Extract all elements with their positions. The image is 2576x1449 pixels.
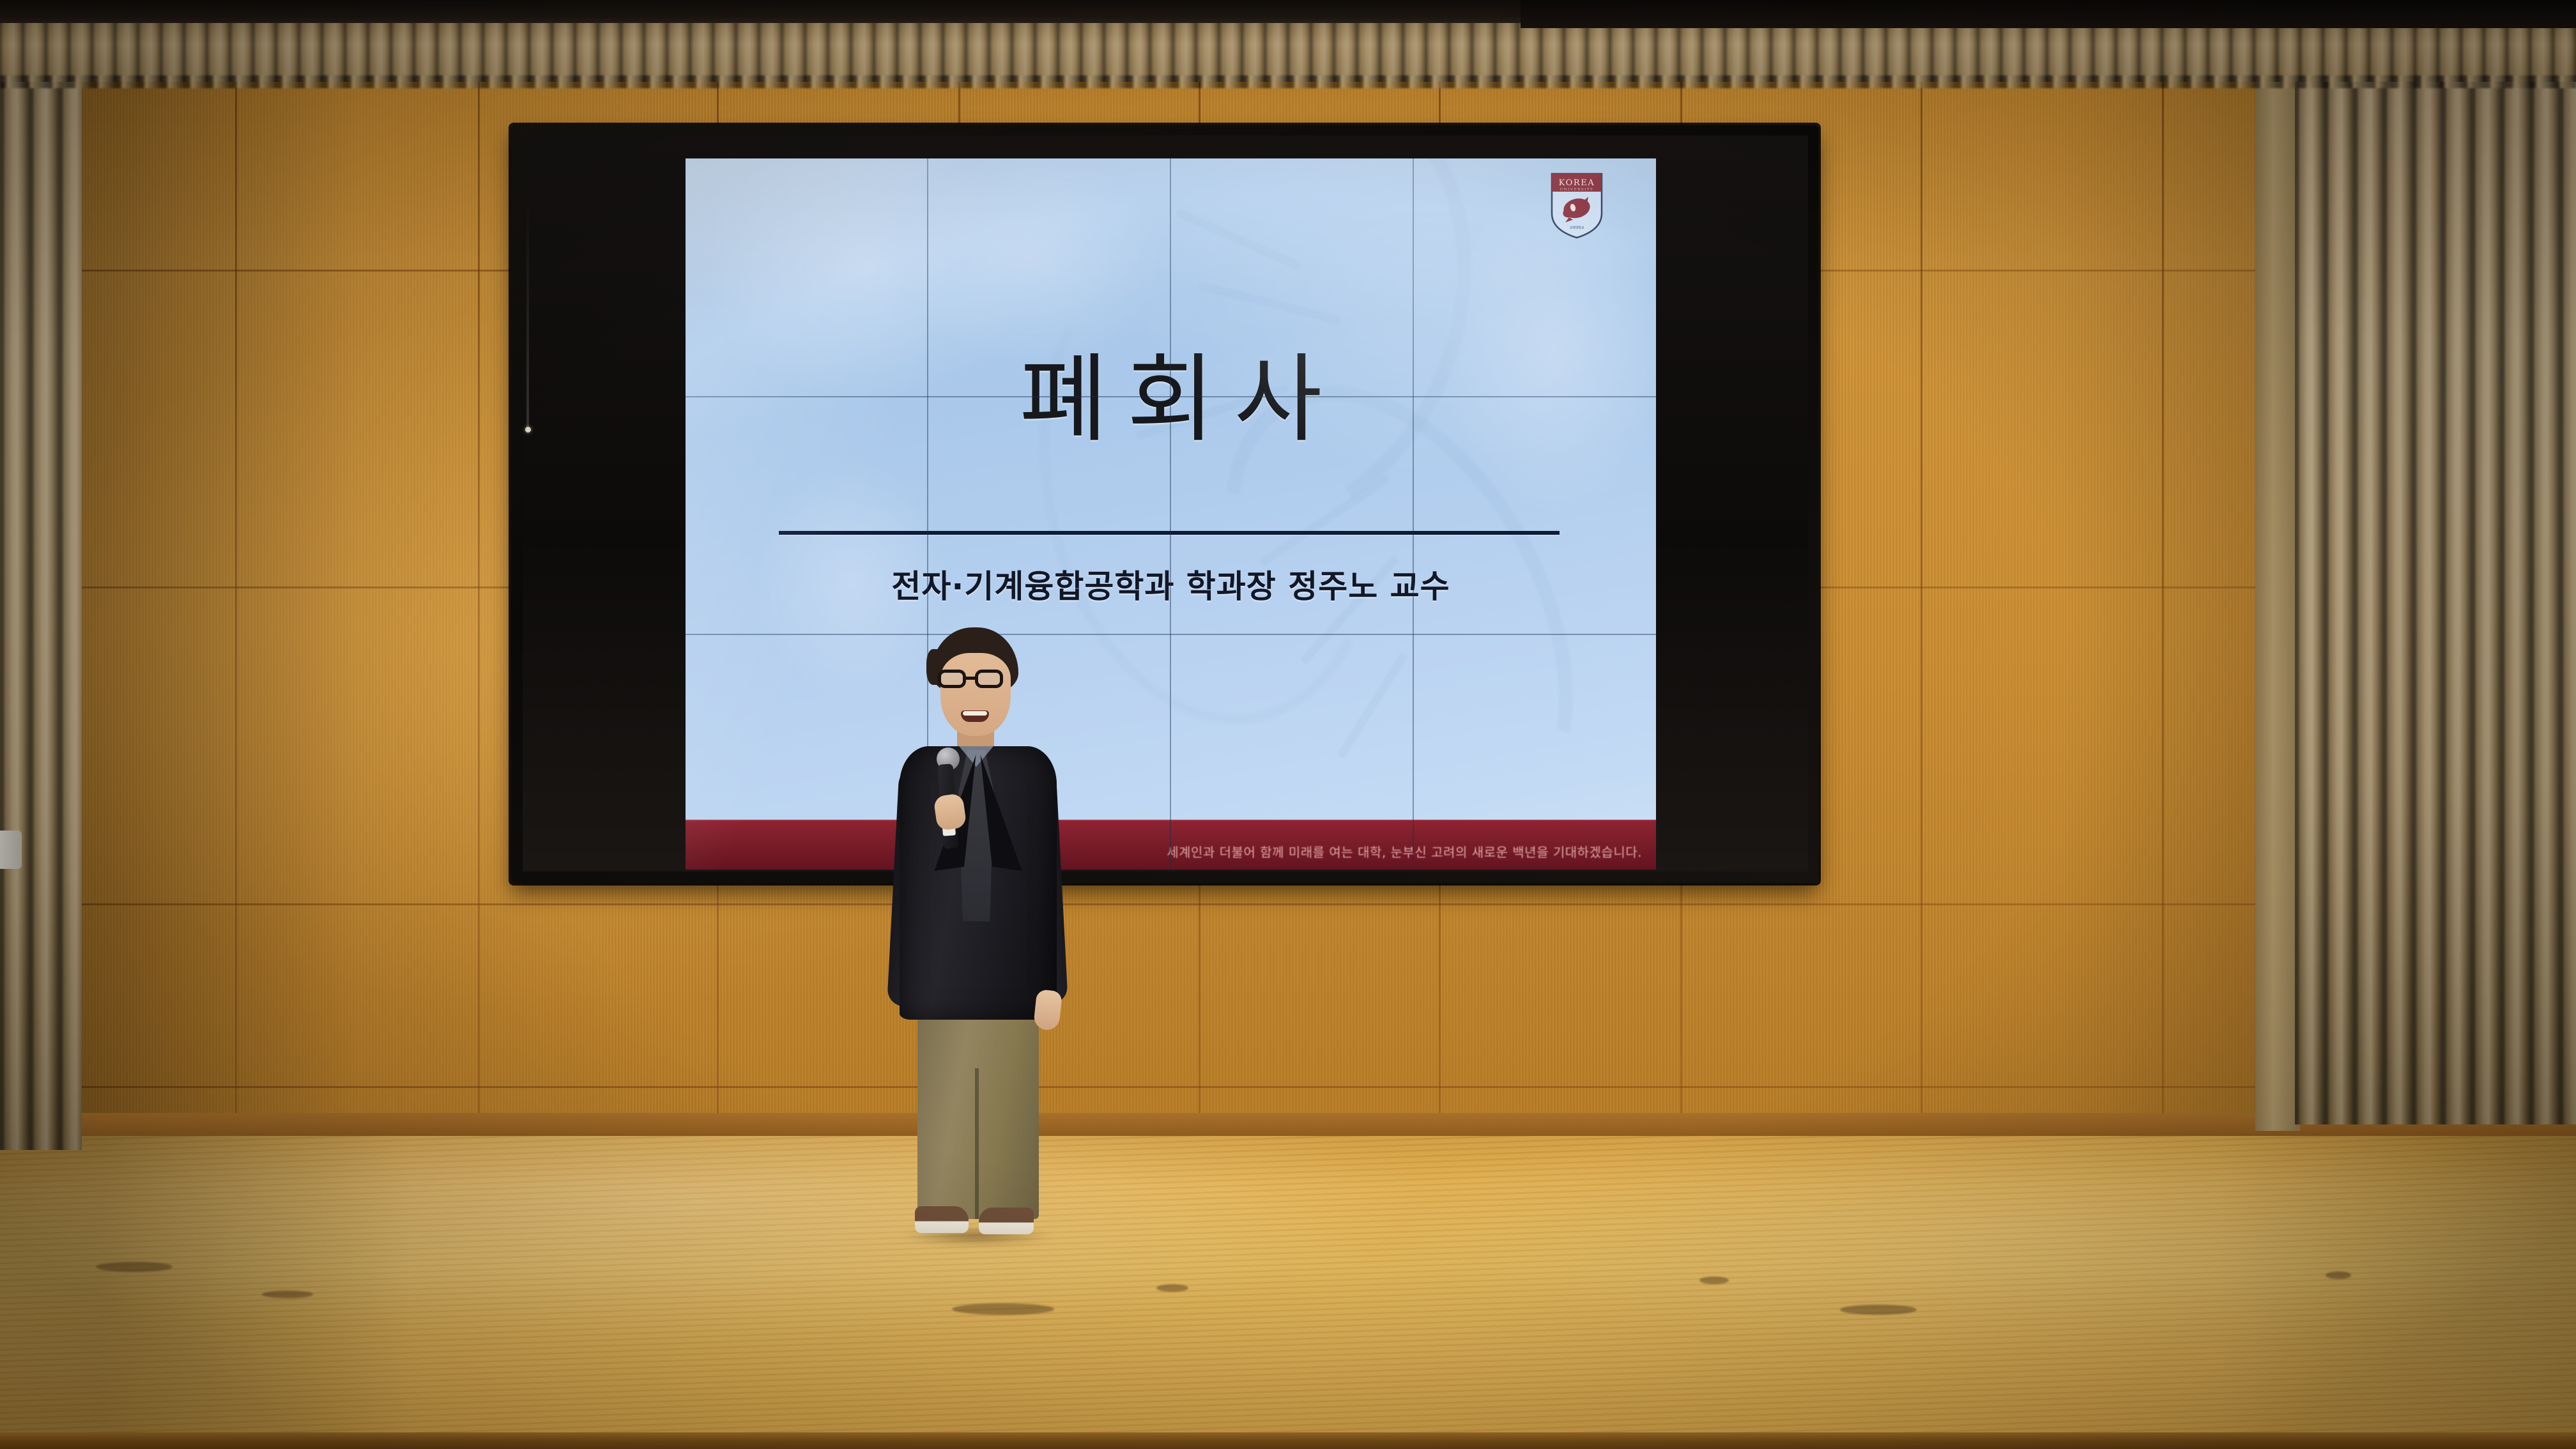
- presenter-figure: [882, 627, 1073, 1253]
- slide-footer-bar: 세계인과 더불어 함께 미래를 여는 대학, 눈부신 고려의 새로운 백년을 기…: [686, 820, 1656, 870]
- side-stage-curtain-right-edge: [2255, 0, 2300, 1131]
- eyeglasses-bridge: [965, 677, 976, 680]
- stage-floor: [0, 1136, 2576, 1449]
- ceiling-beam-right: [1521, 0, 2576, 28]
- dna-molecule-watermark: [686, 158, 1656, 870]
- stage-baseboard: [0, 1113, 2576, 1138]
- slide-subtitle: 전자·기계융합공학과 학과장 정주노 교수: [686, 561, 1656, 607]
- display-cable: [526, 195, 529, 429]
- side-stage-curtain-left: [0, 0, 82, 1150]
- stage-photo-scene: 폐회사 전자·기계융합공학과 학과장 정주노 교수 KOREA UNIVERSI…: [0, 0, 2576, 1449]
- display-status-led: [525, 427, 531, 433]
- eyeglasses-right-lens: [975, 670, 1003, 688]
- slide-footer-text: 세계인과 더불어 함께 미래를 여는 대학, 눈부신 고려의 새로운 백년을 기…: [1167, 842, 1642, 861]
- title-underline-rule: [779, 531, 1560, 535]
- presentation-slide[interactable]: 폐회사 전자·기계융합공학과 학과장 정주노 교수 KOREA UNIVERSI…: [686, 158, 1656, 870]
- svg-text:UNIVERSITY: UNIVERSITY: [1560, 188, 1594, 192]
- presenter-right-hand: [1033, 989, 1062, 1031]
- eyeglasses-left-lens: [938, 670, 966, 688]
- korea-university-crest-icon: KOREA UNIVERSITY 고려대학교: [1550, 172, 1604, 239]
- side-stage-curtain-right: [2295, 0, 2576, 1124]
- presenter-left-shoe: [915, 1206, 969, 1233]
- svg-text:KOREA: KOREA: [1559, 178, 1595, 188]
- stage-front-edge: [0, 1432, 2576, 1449]
- video-wall-panel-seams: [686, 158, 1656, 870]
- presenter-face: [940, 653, 1011, 736]
- slide-title: 폐회사: [686, 322, 1656, 461]
- stage-left-equipment: [0, 831, 22, 869]
- svg-text:고려대학교: 고려대학교: [1569, 226, 1584, 230]
- presenter-trouser-seam: [975, 1068, 979, 1219]
- presenter-mouth: [961, 710, 989, 722]
- screen-glare: [686, 158, 1656, 870]
- presenter-right-shoe: [979, 1207, 1034, 1234]
